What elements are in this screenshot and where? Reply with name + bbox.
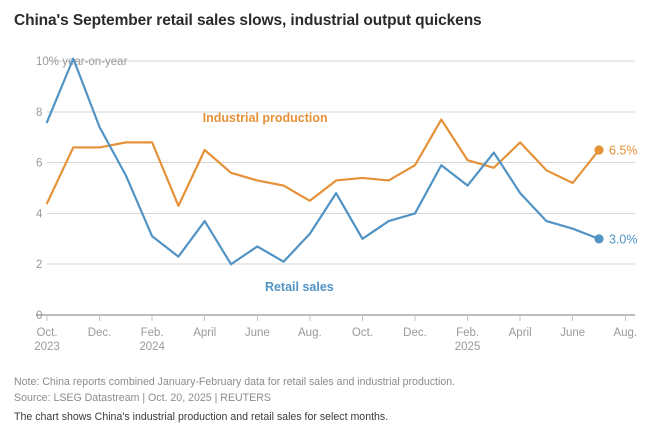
y-axis-label-8: 8 <box>36 107 42 119</box>
retail-series-label: Retail sales <box>265 279 334 293</box>
x-axis-label-16: Feb. <box>456 327 479 339</box>
x-axis-label-8: June <box>245 327 270 339</box>
y-axis-label-4: 4 <box>36 208 43 220</box>
series-end-label-industrial: 6.5% <box>609 143 638 157</box>
y-axis-label-6: 6 <box>36 157 42 169</box>
x-axis-label-4: Feb. <box>141 327 164 339</box>
x-axis-label-20: June <box>560 327 585 339</box>
x-axis-label-22: Aug. <box>613 327 637 339</box>
y-axis-label-0: 0 <box>36 310 42 322</box>
chart-area: 0246810% year-on-yearOct.2023Dec.Feb.202… <box>14 35 657 370</box>
series-line-retail <box>47 58 599 264</box>
footnote-caption: The chart shows China's industrial produ… <box>14 409 657 426</box>
y-axis-label-10: 10% year-on-year <box>36 56 128 68</box>
x-axis-label-14: Dec. <box>403 327 427 339</box>
footnote-note: Note: China reports combined January-Feb… <box>14 374 657 390</box>
x-axis-label-12: Oct. <box>352 327 373 339</box>
series-end-label-retail: 3.0% <box>609 232 638 246</box>
footnote-source: Source: LSEG Datastream | Oct. 20, 2025 … <box>14 390 657 406</box>
x-axis-label-0: Oct. <box>36 327 57 339</box>
chart-page: China's September retail sales slows, in… <box>0 0 671 439</box>
x-axis-label-year-16: 2025 <box>455 341 481 353</box>
x-axis-label-year-4: 2024 <box>139 341 165 353</box>
chart-footer: Note: China reports combined January-Feb… <box>14 374 657 426</box>
line-chart: 0246810% year-on-yearOct.2023Dec.Feb.202… <box>14 35 657 370</box>
series-endpoint-retail <box>594 234 603 243</box>
x-axis-label-18: April <box>509 327 532 339</box>
industrial-series-label: Industrial production <box>203 111 328 125</box>
x-axis-label-6: April <box>193 327 216 339</box>
x-axis-label-2: Dec. <box>88 327 112 339</box>
page-title: China's September retail sales slows, in… <box>14 0 657 31</box>
y-axis-label-2: 2 <box>36 259 42 271</box>
x-axis-label-year-0: 2023 <box>34 341 60 353</box>
series-endpoint-industrial <box>594 145 603 154</box>
x-axis-label-10: Aug. <box>298 327 322 339</box>
